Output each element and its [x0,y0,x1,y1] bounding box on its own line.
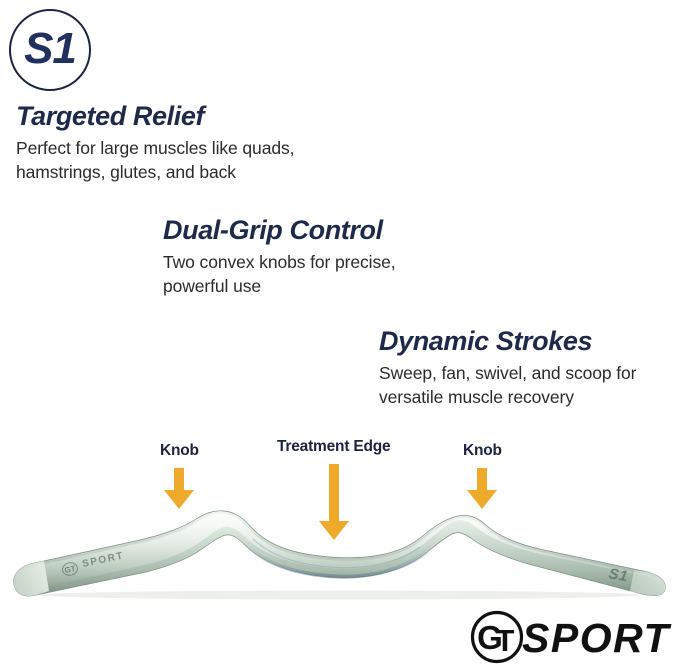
callout-label: Knob [463,443,502,459]
feature-block-dual-grip-control: Dual-Grip Control Two convex knobs for p… [163,215,396,298]
feature-heading: Dynamic Strokes [379,326,636,356]
feature-body-line: Sweep, fan, swivel, and scoop for [379,363,636,383]
feature-block-targeted-relief: Targeted Relief Perfect for large muscle… [16,101,294,184]
tool-tip-right [630,570,665,596]
feature-body-line: Perfect for large muscles like quads, [16,138,294,158]
feature-body: Two convex knobs for precise, powerful u… [163,251,396,298]
gt-monogram-icon: G T [470,610,524,664]
brand-logo: G T SPORT [470,610,670,664]
feature-body: Perfect for large muscles like quads, ha… [16,137,294,184]
gt-monogram-t: T [496,623,515,658]
brand-wordmark: SPORT [522,618,670,659]
feature-body-line: hamstrings, glutes, and back [16,162,236,182]
feature-block-dynamic-strokes: Dynamic Strokes Sweep, fan, swivel, and … [379,326,636,409]
feature-body: Sweep, fan, swivel, and scoop for versat… [379,362,636,409]
callout-label: Treatment Edge [277,439,390,455]
feature-heading: Dual-Grip Control [163,215,396,245]
tool-tip-left [14,561,49,596]
s1-badge: S1 [9,9,91,91]
callout-label: Knob [160,443,199,459]
feature-body-line: Two convex knobs for precise, [163,252,396,272]
tool-engraving-s1: S1 [607,565,629,585]
s1-badge-label: S1 [24,27,76,71]
feature-heading: Targeted Relief [16,101,294,131]
gt-sport-s1-instrument-image: GT SPORT S1 [0,492,679,602]
tool-shadow [40,591,640,600]
feature-body-line: powerful use [163,276,261,296]
feature-body-line: versatile muscle recovery [379,387,574,407]
